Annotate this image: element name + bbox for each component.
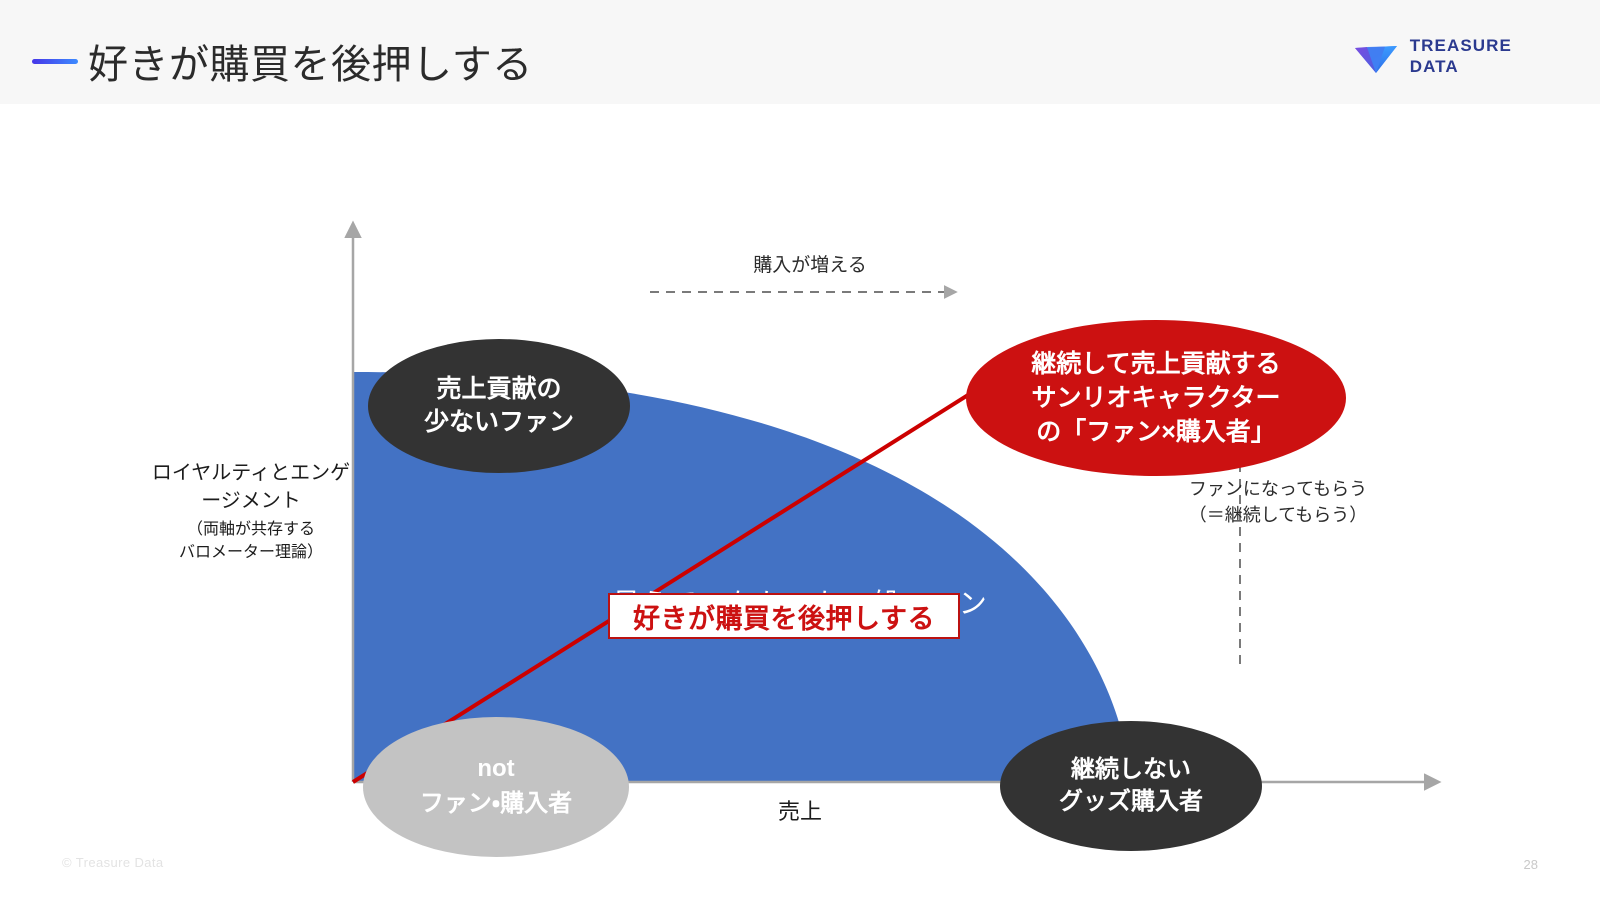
header-accent-rule bbox=[32, 59, 78, 64]
bubble-not-fan-not-buyer-label: not ファン・購入者 bbox=[420, 752, 572, 822]
callout-box-label: 好きが購買を後押しする bbox=[633, 597, 935, 636]
annotation-purchase-increases: 購入が増える bbox=[660, 250, 960, 277]
page-title: 好きが購買を後押しする bbox=[88, 32, 533, 90]
callout-box: 好きが購買を後押しする bbox=[608, 593, 960, 639]
bubble-non-repeat-goods-buyers-label: 継続しない グッズ購入者 bbox=[1059, 754, 1203, 818]
bubble-non-repeat-goods-buyers: 継続しない グッズ購入者 bbox=[1000, 721, 1262, 851]
footer-copyright: © Treasure Data bbox=[62, 855, 164, 870]
bubble-sanrio-fan-buyers: 継続して売上貢献する サンリオキャラクター の「ファン×購入者」 bbox=[966, 320, 1346, 476]
page-number: 28 bbox=[1524, 857, 1538, 872]
y-axis-sublabel: （両軸が共存する バロメーター理論） bbox=[146, 519, 356, 564]
brand-line-1: TREASURE bbox=[1410, 36, 1512, 57]
brand-wordmark: TREASURE DATA bbox=[1410, 36, 1512, 77]
diamond-gem-icon bbox=[1354, 40, 1398, 74]
brand-line-2: DATA bbox=[1410, 57, 1512, 78]
chart-area: 見えていなかった一般ファン 売上貢献の 少ないファン 継続して売上貢献する サン… bbox=[0, 104, 1600, 844]
bubble-not-fan-not-buyer: not ファン・購入者 bbox=[363, 717, 629, 857]
annotation-become-a-fan: ファンになってもらう （＝継続してもらう） bbox=[1148, 476, 1408, 528]
y-axis-label: ロイヤルティとエンゲージメント bbox=[146, 459, 356, 516]
bubble-low-contribution-fans-label: 売上貢献の 少ないファン bbox=[424, 373, 574, 440]
bubble-low-contribution-fans: 売上貢献の 少ないファン bbox=[368, 339, 630, 473]
slide-canvas: 好きが購買を後押しする T bbox=[0, 0, 1600, 900]
bubble-sanrio-fan-buyers-label: 継続して売上貢献する サンリオキャラクター の「ファン×購入者」 bbox=[1031, 347, 1280, 449]
brand-logo: TREASURE DATA bbox=[1354, 36, 1512, 77]
x-axis-label: 売上 bbox=[700, 794, 900, 826]
